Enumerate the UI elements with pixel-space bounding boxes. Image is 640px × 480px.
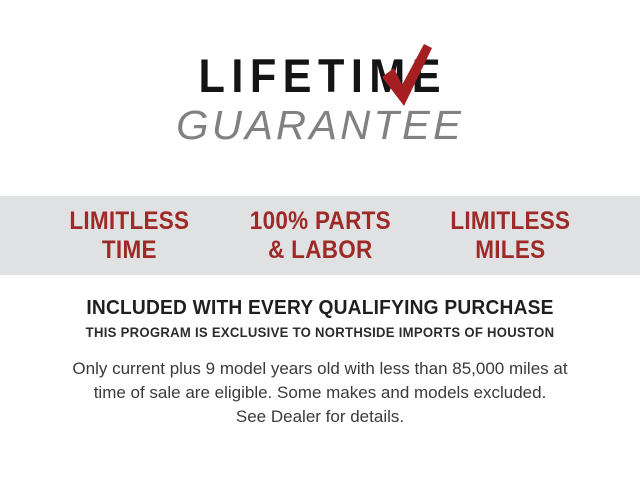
feature-limitless-miles: LIMITLESS MILES [425, 207, 597, 265]
feature-band: LIMITLESS TIME 100% PARTS & LABOR LIMITL… [0, 196, 640, 275]
logo-word-lifetime: LIFETIME [193, 52, 448, 99]
feature-line2: TIME [44, 236, 216, 265]
fineprint-line-1: Only current plus 9 model years old with… [50, 357, 590, 381]
logo-word-guarantee: GUARANTEE [0, 105, 640, 146]
fineprint-line-3: See Dealer for details. [50, 405, 590, 429]
logo-block: LIFETIME GUARANTEE [0, 0, 640, 196]
logo-lifetime-wrap: LIFETIME [181, 52, 458, 99]
logo-inner: LIFETIME GUARANTEE [0, 52, 640, 146]
feature-limitless-time: LIMITLESS TIME [44, 207, 216, 265]
lifetime-guarantee-ad: LIFETIME GUARANTEE LIMITLESS TIME 100% P… [0, 0, 640, 480]
feature-line2: & LABOR [234, 236, 406, 265]
feature-line1: 100% PARTS [249, 207, 390, 235]
fineprint: Only current plus 9 model years old with… [50, 357, 590, 429]
lower-text-block: INCLUDED WITH EVERY QUALIFYING PURCHASE … [0, 275, 640, 429]
feature-line1: LIMITLESS [451, 207, 571, 235]
subheadline: THIS PROGRAM IS EXCLUSIVE TO NORTHSIDE I… [10, 325, 631, 340]
fineprint-line-2: time of sale are eligible. Some makes an… [50, 381, 590, 405]
headline: INCLUDED WITH EVERY QUALIFYING PURCHASE [13, 297, 627, 320]
feature-parts-labor: 100% PARTS & LABOR [234, 207, 406, 265]
feature-line2: MILES [425, 236, 597, 265]
feature-line1: LIMITLESS [69, 207, 189, 235]
